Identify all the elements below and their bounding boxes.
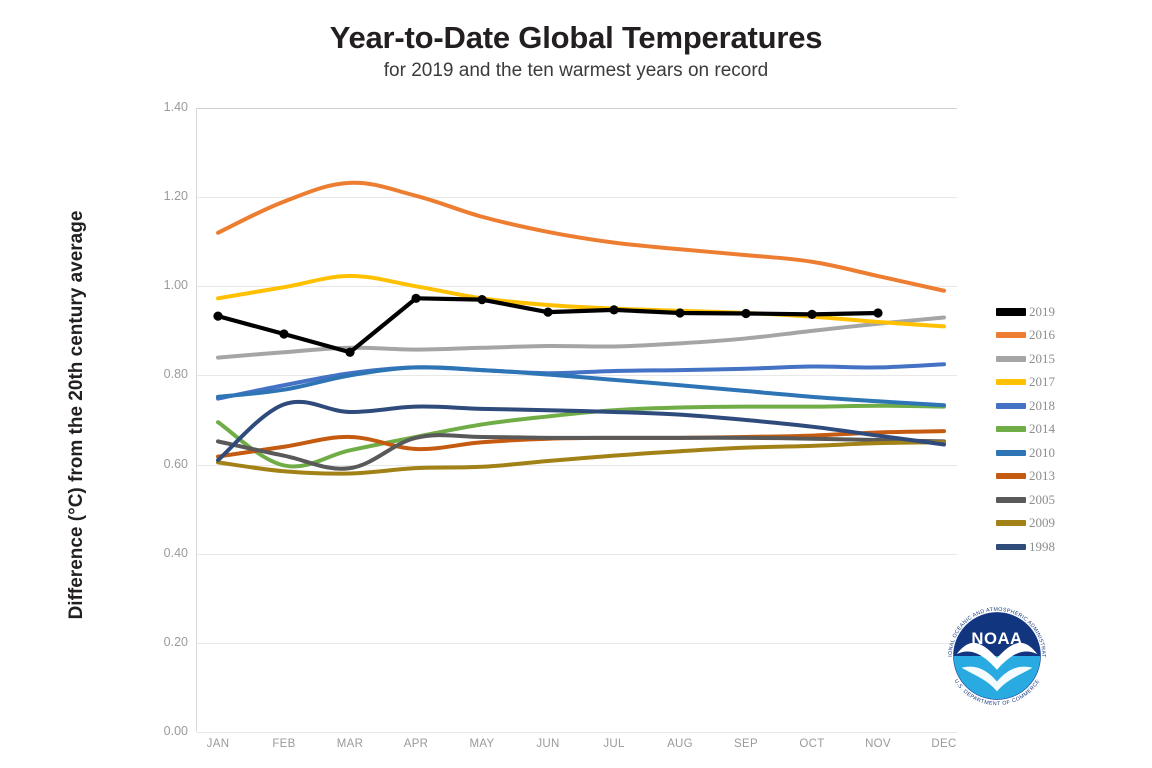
legend-swatch-icon (996, 403, 1026, 409)
chart-page: Year-to-Date Global Temperatures for 201… (0, 0, 1152, 768)
data-point-marker (873, 308, 882, 317)
legend-item-label: 1998 (1029, 539, 1055, 555)
data-point-marker (345, 348, 354, 357)
legend-swatch-icon (996, 426, 1026, 432)
series-line (218, 276, 944, 326)
legend-item-label: 2019 (1029, 304, 1055, 320)
data-point-marker (609, 305, 618, 314)
series-2016 (218, 183, 944, 291)
legend: 2019201620152017201820142010201320052009… (996, 300, 1126, 559)
series-1998 (218, 402, 944, 460)
data-point-marker (543, 308, 552, 317)
legend-item-label: 2018 (1029, 398, 1055, 414)
legend-item-2010[interactable]: 2010 (996, 441, 1126, 465)
series-line (218, 402, 944, 460)
legend-item-label: 2013 (1029, 468, 1055, 484)
legend-item-label: 2009 (1029, 515, 1055, 531)
legend-item-label: 2017 (1029, 374, 1055, 390)
legend-item-2009[interactable]: 2009 (996, 512, 1126, 536)
data-point-marker (279, 329, 288, 338)
legend-item-2013[interactable]: 2013 (996, 465, 1126, 489)
legend-swatch-icon (996, 450, 1026, 456)
legend-item-label: 2005 (1029, 492, 1055, 508)
legend-swatch-icon (996, 356, 1026, 362)
legend-item-2018[interactable]: 2018 (996, 394, 1126, 418)
data-point-marker (477, 295, 486, 304)
svg-text:NOAA: NOAA (971, 629, 1022, 648)
legend-item-2005[interactable]: 2005 (996, 488, 1126, 512)
legend-item-2016[interactable]: 2016 (996, 324, 1126, 348)
legend-swatch-icon (996, 332, 1026, 338)
series-2017 (218, 276, 944, 326)
legend-item-2015[interactable]: 2015 (996, 347, 1126, 371)
legend-item-label: 2015 (1029, 351, 1055, 367)
series-line (218, 183, 944, 291)
legend-swatch-icon (996, 308, 1026, 316)
series-line (218, 317, 944, 357)
data-point-marker (741, 309, 750, 318)
legend-item-label: 2014 (1029, 421, 1055, 437)
legend-swatch-icon (996, 520, 1026, 526)
legend-item-1998[interactable]: 1998 (996, 535, 1126, 559)
legend-item-2017[interactable]: 2017 (996, 371, 1126, 395)
data-point-marker (675, 308, 684, 317)
noaa-logo: NOAA NATIONAL OCEANIC AND ATMOSPHERIC AD… (938, 597, 1056, 715)
legend-swatch-icon (996, 544, 1026, 550)
legend-swatch-icon (996, 497, 1026, 503)
legend-item-label: 2016 (1029, 327, 1055, 343)
legend-item-label: 2010 (1029, 445, 1055, 461)
data-point-marker (213, 312, 222, 321)
legend-swatch-icon (996, 379, 1026, 385)
legend-item-2014[interactable]: 2014 (996, 418, 1126, 442)
series-2015 (218, 317, 944, 357)
legend-item-2019[interactable]: 2019 (996, 300, 1126, 324)
data-point-marker (807, 310, 816, 319)
data-point-marker (411, 294, 420, 303)
legend-swatch-icon (996, 473, 1026, 479)
